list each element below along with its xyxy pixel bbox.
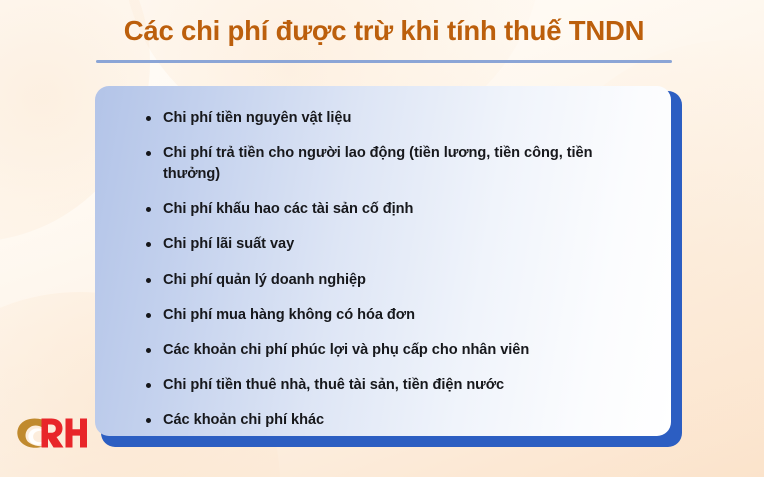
qh-logo xyxy=(14,413,88,453)
list-item: Các khoản chi phí phúc lợi và phụ cấp ch… xyxy=(145,340,645,361)
slide-canvas: Các chi phí được trừ khi tính thuế TNDN … xyxy=(0,0,764,477)
list-item: Chi phí quản lý doanh nghiệp xyxy=(145,270,645,291)
page-title: Các chi phí được trừ khi tính thuế TNDN xyxy=(96,14,672,48)
list-item: Chi phí mua hàng không có hóa đơn xyxy=(145,305,645,326)
list-item: Chi phí trả tiền cho người lao động (tiề… xyxy=(145,143,645,184)
title-block: Các chi phí được trừ khi tính thuế TNDN xyxy=(96,14,672,63)
deductible-expense-list: Chi phí tiền nguyên vật liệu Chi phí trả… xyxy=(95,86,671,431)
card-surface: Chi phí tiền nguyên vật liệu Chi phí trả… xyxy=(95,86,671,436)
list-item: Chi phí khấu hao các tài sản cố định xyxy=(145,199,645,220)
content-card: Chi phí tiền nguyên vật liệu Chi phí trả… xyxy=(95,86,682,447)
logo-letter-r xyxy=(42,419,64,448)
list-item: Chi phí tiền thuê nhà, thuê tài sản, tiề… xyxy=(145,375,645,396)
list-item: Chi phí tiền nguyên vật liệu xyxy=(145,108,645,129)
list-item: Chi phí lãi suất vay xyxy=(145,234,645,255)
title-divider xyxy=(96,60,672,63)
qh-logo-icon xyxy=(14,413,88,453)
list-item: Các khoản chi phí khác xyxy=(145,410,645,431)
logo-letter-h xyxy=(66,419,88,448)
